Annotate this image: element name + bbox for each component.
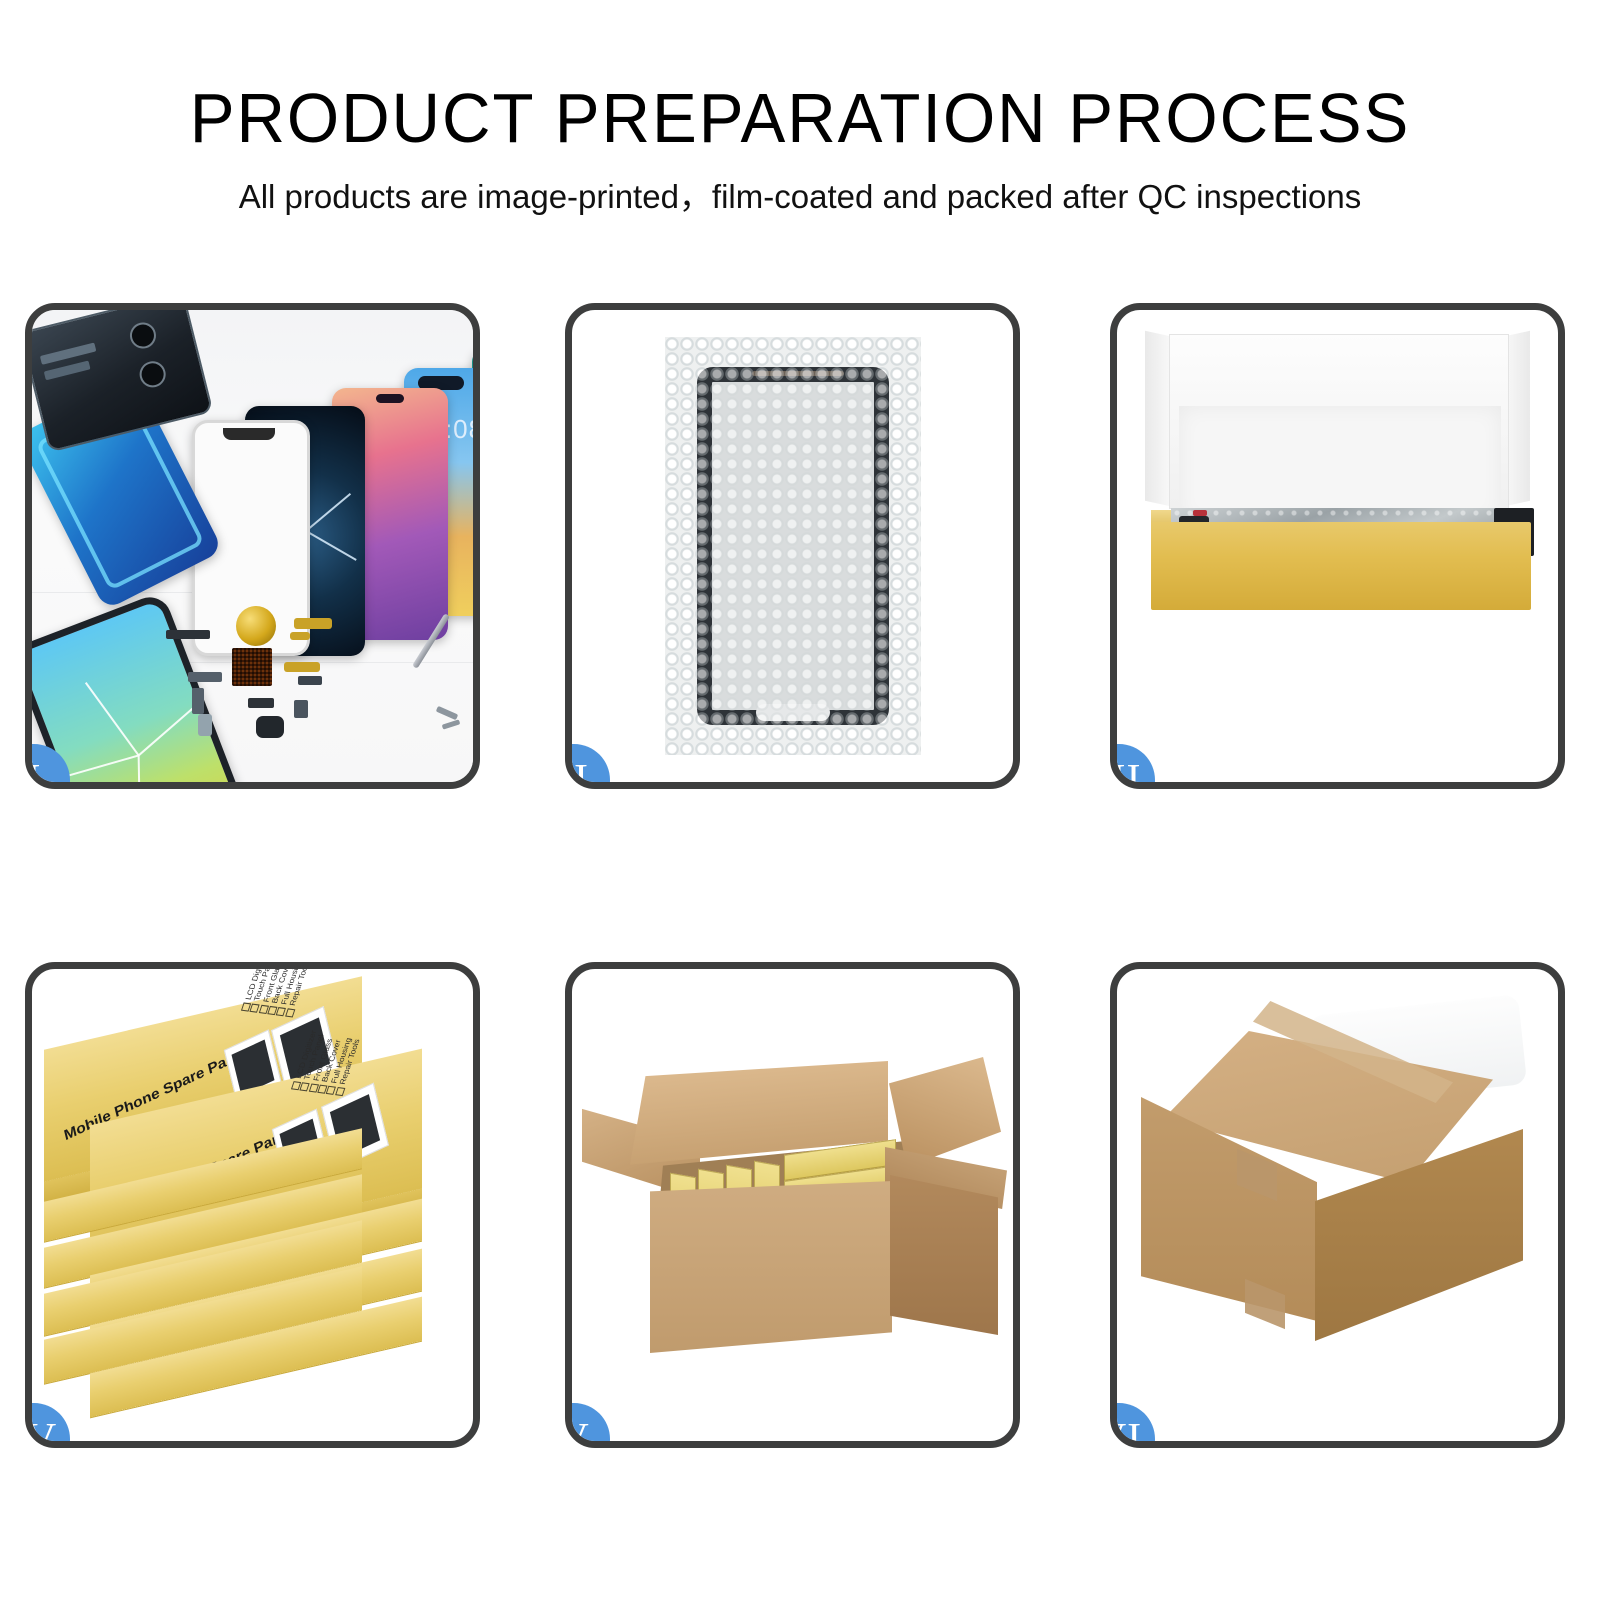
panel-6-image [1117, 969, 1558, 1441]
retail-box-checklist: LCD Digitizer Touch Panel Front Glass Ba… [240, 969, 313, 1018]
process-step-1: 08:08 [25, 303, 480, 789]
panel-5-image [572, 969, 1013, 1441]
camera-module [256, 716, 284, 738]
crack-line [85, 682, 140, 756]
flex-cable [284, 662, 320, 672]
red-tab-marker [1193, 510, 1207, 516]
connector [192, 688, 204, 714]
carton-front-face [650, 1181, 892, 1353]
ic-chip [232, 648, 272, 686]
box-tray-body [1151, 522, 1531, 610]
crack-line [305, 493, 351, 532]
bubble-wrapped-screen [665, 337, 921, 755]
camera-lens-icon [127, 320, 159, 352]
panel-1-image: 08:08 [32, 310, 473, 782]
process-step-6: VI [1110, 962, 1565, 1448]
checkbox-icon [335, 1087, 345, 1096]
panel-2-image [572, 310, 1013, 782]
flex-cable [290, 632, 310, 640]
panel-3-image [1117, 310, 1558, 782]
speaker-mesh [166, 630, 210, 639]
bubble-wrap-overlay [665, 337, 921, 755]
wireless-charging-coil [236, 606, 276, 646]
vibration-motor [294, 700, 308, 718]
checkbox-icon [285, 1008, 295, 1017]
process-grid: 08:08 [0, 0, 1600, 1600]
carton-side-face [890, 1175, 998, 1335]
camera-lens-icon [137, 359, 169, 391]
connector [298, 676, 322, 685]
sim-tray [198, 714, 212, 736]
process-step-2: II [565, 303, 1020, 789]
panel-4-image: Mobile Phone Spare Parts LCD Digitizer T… [32, 969, 473, 1441]
crack-line [306, 530, 357, 561]
flex-cable [294, 618, 332, 629]
battery-connector [248, 698, 274, 708]
process-step-5: V [565, 962, 1020, 1448]
crack-line [138, 755, 142, 782]
internal-strip [44, 360, 91, 380]
carton-flap-right [889, 1057, 1001, 1167]
process-step-3: III [1110, 303, 1565, 789]
foam-insert [1179, 406, 1501, 524]
connector [188, 672, 222, 682]
process-step-4: Mobile Phone Spare Parts LCD Digitizer T… [25, 962, 480, 1448]
